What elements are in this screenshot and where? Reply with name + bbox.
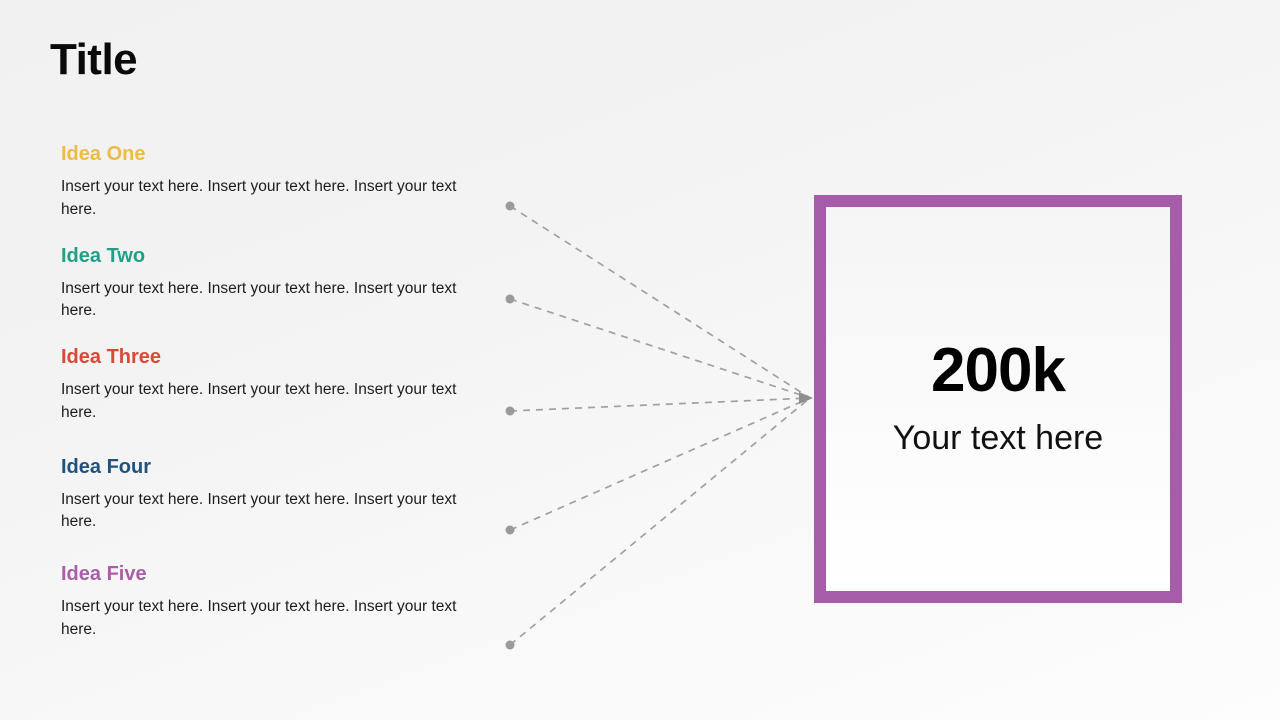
- idea-three-body: Insert your text here. Insert your text …: [61, 379, 477, 425]
- idea-item-one: Idea One Insert your text here. Insert y…: [61, 142, 481, 222]
- idea-item-five: Idea Five Insert your text here. Insert …: [61, 562, 481, 642]
- connector-dot-icon: [506, 526, 515, 535]
- idea-item-four: Idea Four Insert your text here. Insert …: [61, 455, 481, 535]
- idea-item-three: Idea Three Insert your text here. Insert…: [61, 345, 481, 425]
- idea-item-two: Idea Two Insert your text here. Insert y…: [61, 244, 481, 324]
- stat-number: 200k: [931, 340, 1065, 402]
- idea-four-heading: Idea Four: [61, 455, 481, 480]
- idea-four-body: Insert your text here. Insert your text …: [61, 489, 477, 535]
- page-title: Title: [50, 36, 137, 84]
- connector-dot-icon: [506, 202, 515, 211]
- connector-dot-icon: [506, 407, 515, 416]
- idea-one-body: Insert your text here. Insert your text …: [61, 176, 477, 222]
- idea-five-heading: Idea Five: [61, 562, 481, 587]
- connector-dot-icon: [506, 295, 515, 304]
- idea-list: Idea One Insert your text here. Insert y…: [61, 142, 481, 642]
- idea-two-body: Insert your text here. Insert your text …: [61, 278, 477, 324]
- highlight-stat-box: 200k Your text here: [814, 195, 1182, 603]
- highlight-stat-box-inner: 200k Your text here: [826, 207, 1170, 591]
- slide-canvas: Title Idea One Insert your text here. In…: [0, 0, 1280, 720]
- connector-dot-icon: [506, 641, 515, 650]
- connector-line-five: [506, 398, 811, 650]
- stat-caption: Your text here: [893, 420, 1103, 457]
- connector-arrowhead-icon: [799, 392, 813, 404]
- idea-one-heading: Idea One: [61, 142, 481, 167]
- idea-two-heading: Idea Two: [61, 244, 481, 269]
- connector-line-one: [506, 202, 811, 399]
- connector-line-three: [506, 398, 811, 416]
- idea-three-heading: Idea Three: [61, 345, 481, 370]
- connector-line-two: [506, 295, 811, 399]
- connector-line-four: [506, 398, 811, 535]
- idea-five-body: Insert your text here. Insert your text …: [61, 596, 477, 642]
